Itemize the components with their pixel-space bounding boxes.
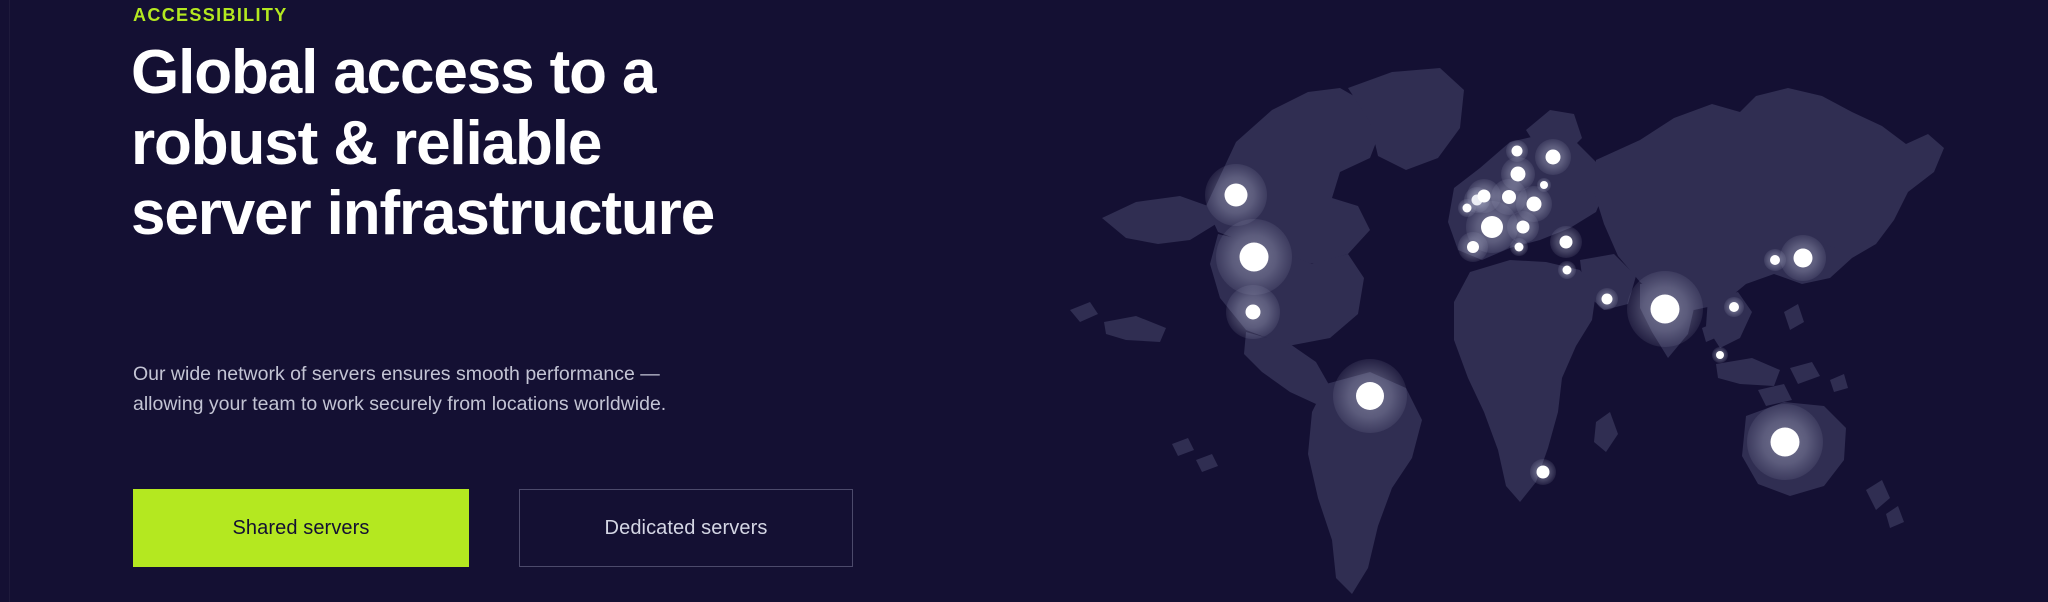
page-title-line-3: server infrastructure — [131, 179, 831, 250]
land-island-b — [1830, 374, 1848, 392]
marker-africa-south[interactable] — [1530, 459, 1556, 485]
land-caribbean-4 — [1172, 438, 1194, 456]
land-new-zealand-2 — [1886, 506, 1904, 528]
world-map-svg — [1040, 0, 2048, 602]
hero-description-line-2: allowing your team to work securely from… — [133, 390, 823, 420]
marker-southeast-asia-b[interactable] — [1712, 347, 1728, 363]
marker-adriatic[interactable] — [1507, 211, 1539, 243]
hero-text-column: ACCESSIBILITY Global access to a robust … — [133, 0, 853, 602]
hero-description-line-1: Our wide network of servers ensures smoo… — [133, 360, 823, 390]
marker-eastern-europe[interactable] — [1550, 226, 1582, 258]
marker-south-asia[interactable] — [1627, 271, 1703, 347]
world-server-map — [1040, 0, 2048, 602]
marker-iberia[interactable] — [1458, 232, 1488, 262]
page-title-line-2: robust & reliable — [131, 109, 831, 180]
marker-north-america-south[interactable] — [1226, 285, 1280, 339]
shared-servers-button[interactable]: Shared servers — [133, 489, 469, 567]
marker-north-america-central[interactable] — [1216, 219, 1292, 295]
marker-southeast-asia-a[interactable] — [1724, 297, 1744, 317]
section-eyebrow-label: ACCESSIBILITY — [133, 5, 288, 27]
marker-northern-europe-b[interactable] — [1535, 139, 1571, 175]
land-caribbean-5 — [1196, 454, 1218, 472]
marker-oceania[interactable] — [1747, 404, 1823, 480]
hero-description: Our wide network of servers ensures smoo… — [133, 360, 823, 419]
land-indonesia-1 — [1716, 358, 1780, 386]
marker-north-america-west[interactable] — [1205, 164, 1267, 226]
land-alaska — [1102, 196, 1216, 244]
marker-east-asia[interactable] — [1780, 235, 1826, 281]
marker-middle-east[interactable] — [1596, 288, 1618, 310]
marker-mediterranean[interactable] — [1558, 261, 1576, 279]
land-indonesia-2 — [1790, 362, 1820, 384]
marker-balkans[interactable] — [1510, 238, 1528, 256]
page-title: Global access to a robust & reliable ser… — [131, 38, 831, 250]
land-new-zealand — [1866, 480, 1890, 510]
dedicated-servers-button[interactable]: Dedicated servers — [519, 489, 853, 567]
land-madagascar — [1594, 412, 1618, 452]
marker-south-america-east[interactable] — [1333, 359, 1407, 433]
land-philippines — [1784, 304, 1804, 330]
land-africa — [1454, 260, 1596, 502]
page-title-line-1: Global access to a — [131, 38, 831, 109]
hero-action-buttons: Shared servers Dedicated servers — [133, 489, 853, 567]
accessibility-hero-section: ACCESSIBILITY Global access to a robust … — [0, 0, 2048, 602]
land-caribbean-1 — [1070, 302, 1098, 322]
land-caribbean-2 — [1104, 316, 1166, 342]
